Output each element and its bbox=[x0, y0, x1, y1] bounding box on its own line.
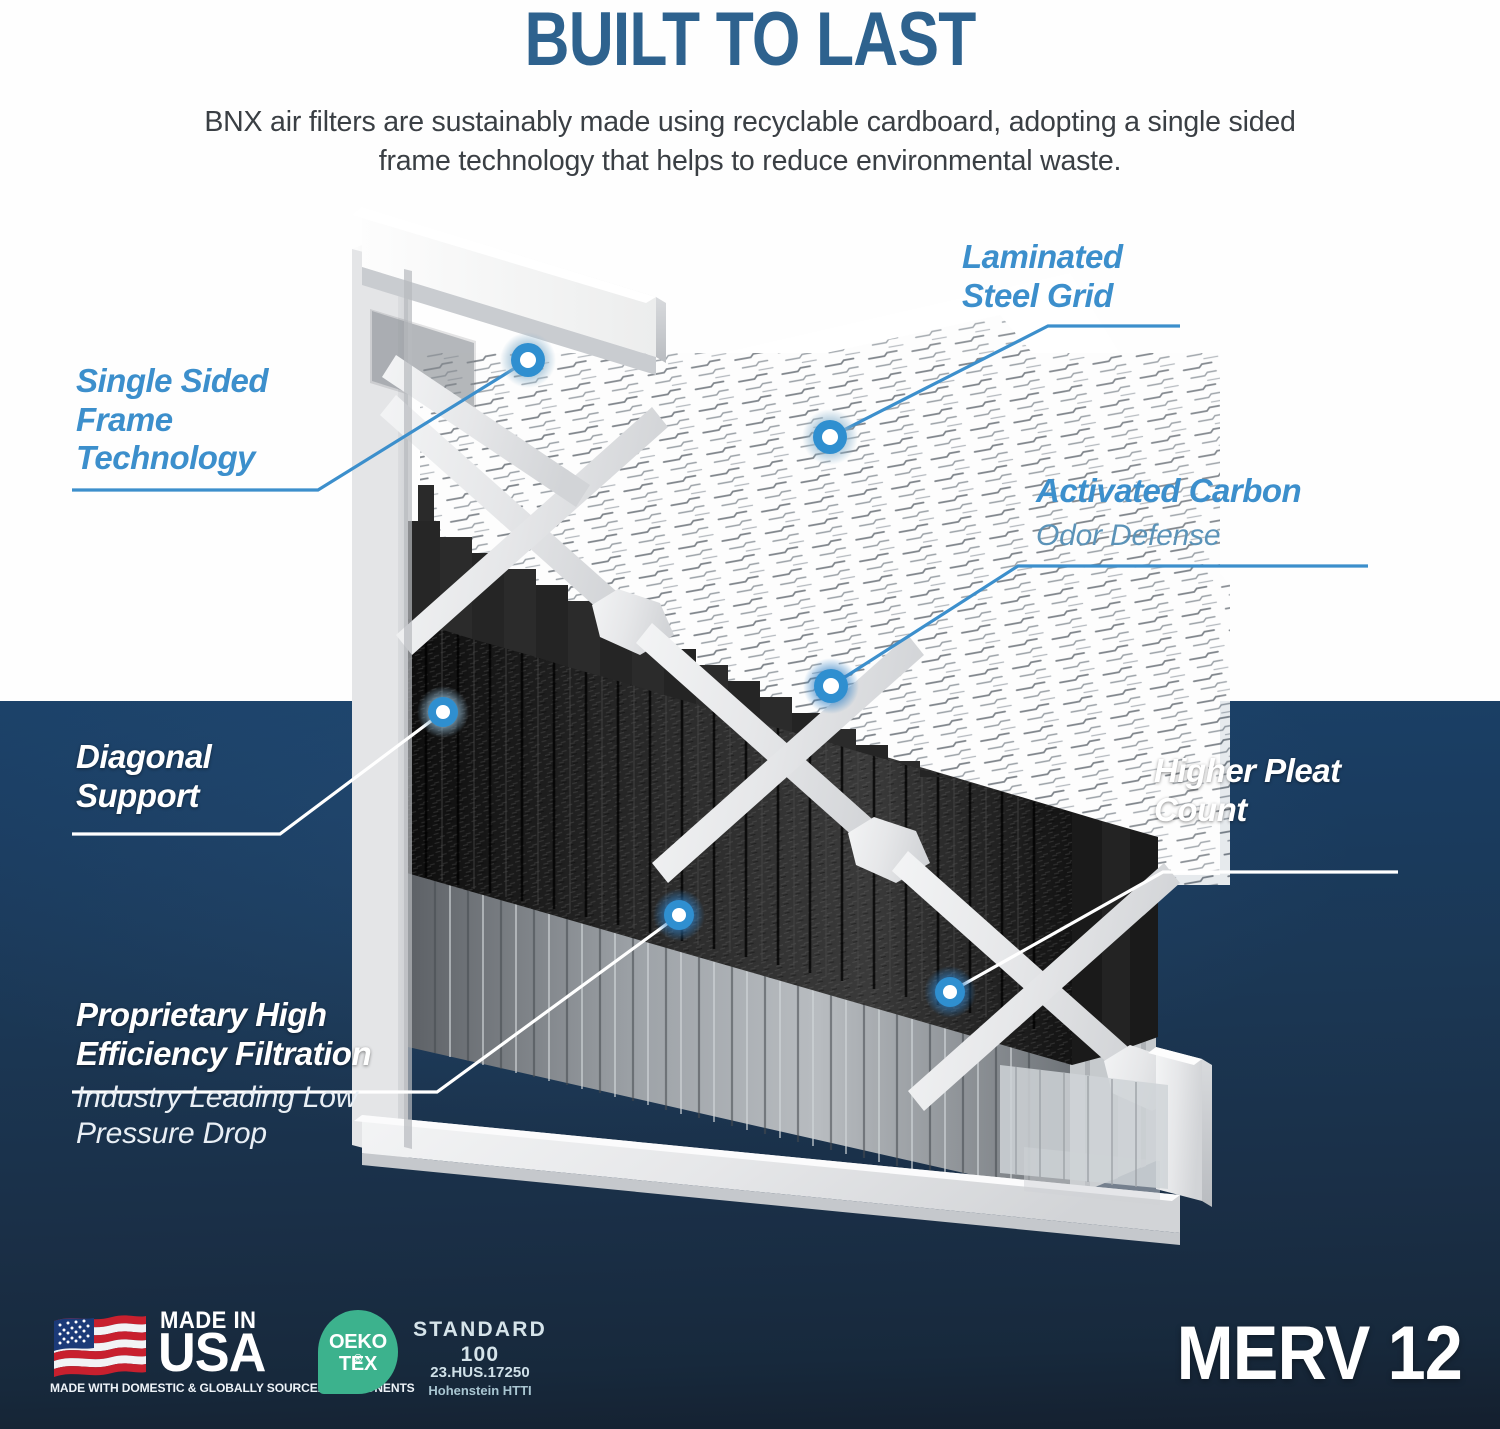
callout-filtration-title: Proprietary High Efficiency Filtration bbox=[76, 996, 371, 1073]
callout-diagonal-support-title: Diagonal Support bbox=[76, 738, 211, 815]
callout-activated-carbon: Activated Carbon Odor Defense bbox=[1036, 472, 1301, 554]
infographic-canvas: BUILT TO LAST BNX air filters are sustai… bbox=[0, 0, 1500, 1429]
merv-rating: MERV 12 bbox=[1177, 1310, 1462, 1397]
callout-activated-carbon-sub: Odor Defense bbox=[1036, 518, 1301, 554]
callout-higher-pleat: Higher Pleat Count bbox=[1154, 752, 1341, 829]
page-title: BUILT TO LAST bbox=[135, 0, 1365, 83]
callout-single-sided-title: Single Sided Frame Technology bbox=[76, 362, 268, 478]
oeko-certificate-code: 23.HUS.17250 bbox=[410, 1364, 550, 1381]
oeko-institute: Hohenstein HTTI bbox=[410, 1383, 550, 1398]
usa-flag-icon bbox=[52, 1311, 148, 1379]
oeko-standard-label: STANDARD 100 bbox=[410, 1318, 550, 1368]
callout-filtration-sub: Industry Leading Low Pressure Drop bbox=[76, 1080, 371, 1152]
higher-pleat-count-zone bbox=[1000, 1065, 1168, 1189]
callout-filtration: Proprietary High Efficiency Filtration I… bbox=[76, 996, 371, 1152]
oeko-tex-badge: OEKO TEX® STANDARD 100 23.HUS.17250 Hohe… bbox=[318, 1310, 548, 1406]
callout-laminated-grid: Laminated Steel Grid bbox=[962, 238, 1123, 315]
callout-activated-carbon-title: Activated Carbon bbox=[1036, 472, 1301, 511]
registered-mark-icon: ® bbox=[318, 1353, 398, 1365]
usa-label: USA bbox=[158, 1325, 265, 1380]
filter-product-illustration bbox=[300, 185, 1220, 1260]
callout-higher-pleat-title: Higher Pleat Count bbox=[1154, 752, 1341, 829]
oeko-tex-drop-icon: OEKO TEX® bbox=[318, 1310, 398, 1394]
oeko-brand-line1: OEKO bbox=[318, 1331, 398, 1354]
callout-single-sided: Single Sided Frame Technology bbox=[76, 362, 268, 478]
callout-laminated-grid-title: Laminated Steel Grid bbox=[962, 238, 1123, 315]
page-subtitle: BNX air filters are sustainably made usi… bbox=[190, 103, 1310, 181]
made-in-usa-badge: MADE IN USA MADE WITH DOMESTIC & GLOBALL… bbox=[48, 1305, 328, 1409]
callout-diagonal-support: Diagonal Support bbox=[76, 738, 211, 815]
